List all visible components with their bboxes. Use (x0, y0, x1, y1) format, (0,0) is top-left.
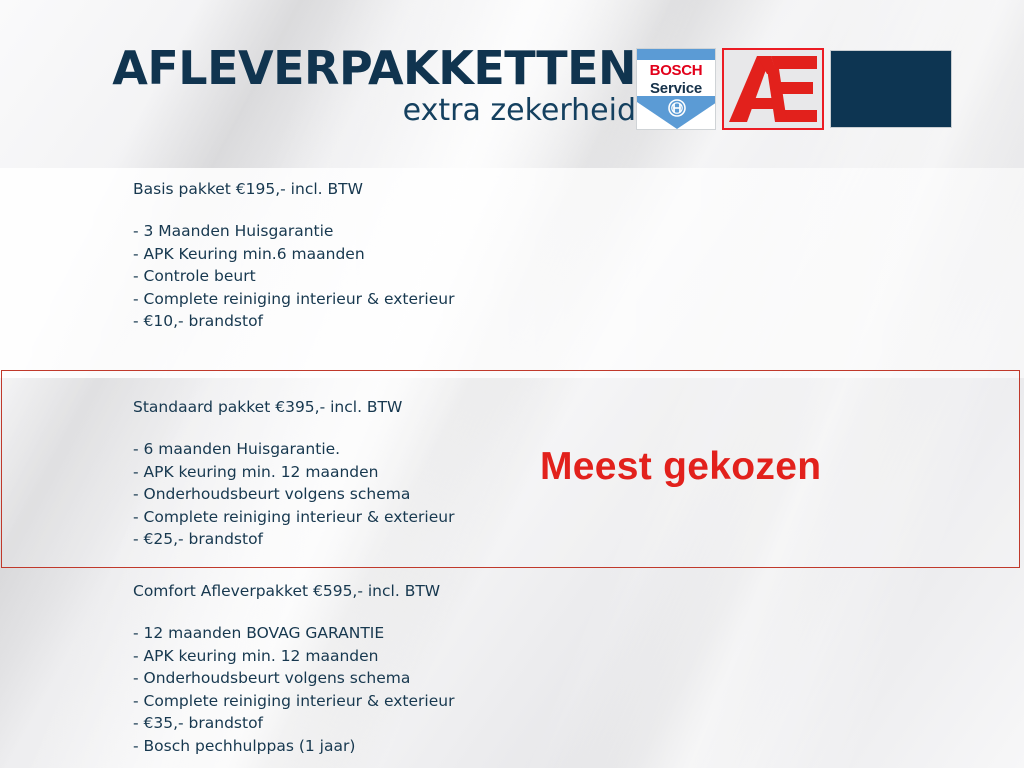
list-item: - APK keuring min. 12 maanden (133, 461, 454, 484)
header: AFLEVERPAKKETTEN extra zekerheid BOSCH S… (0, 0, 1024, 150)
list-item: - 6 maanden Huisgarantie. (133, 438, 454, 461)
bosch-top-bar (637, 49, 715, 60)
list-item: - Onderhoudsbeurt volgens schema (133, 483, 454, 506)
list-item: - Bosch pechhulppas (1 jaar) (133, 735, 454, 758)
list-item: - 3 Maanden Huisgarantie (133, 220, 454, 243)
list-item: - 12 maanden BOVAG GARANTIE (133, 622, 454, 645)
list-item: - Controle beurt (133, 265, 454, 288)
list-item: - €25,- brandstof (133, 528, 454, 551)
package-basis-features: - 3 Maanden Huisgarantie - APK Keuring m… (133, 220, 454, 333)
list-item: - Onderhoudsbeurt volgens schema (133, 667, 454, 690)
list-item: - APK Keuring min.6 maanden (133, 243, 454, 266)
package-standaard-features: - 6 maanden Huisgarantie. - APK keuring … (133, 438, 454, 551)
package-standaard-title: Standaard pakket €395,- incl. BTW (133, 396, 454, 418)
bosch-service-wordmark: Service (637, 80, 715, 97)
package-basis: Basis pakket €195,- incl. BTW - 3 Maande… (133, 178, 454, 333)
package-comfort: Comfort Afleverpakket €595,- incl. BTW -… (133, 580, 454, 757)
slide-canvas: AFLEVERPAKKETTEN extra zekerheid BOSCH S… (0, 0, 1024, 768)
package-comfort-title: Comfort Afleverpakket €595,- incl. BTW (133, 580, 454, 602)
list-item: - €10,- brandstof (133, 310, 454, 333)
ae-logo (722, 48, 824, 130)
page-title: AFLEVERPAKKETTEN (88, 44, 636, 92)
most-chosen-badge: Meest gekozen (540, 445, 821, 489)
ae-monogram-icon (727, 54, 819, 124)
list-item: - Complete reiniging interieur & exterie… (133, 288, 454, 311)
bosch-service-logo: BOSCH Service (636, 48, 716, 130)
list-item: - €35,- brandstof (133, 712, 454, 735)
package-standaard: Standaard pakket €395,- incl. BTW - 6 ma… (133, 396, 454, 551)
package-comfort-features: - 12 maanden BOVAG GARANTIE - APK keurin… (133, 622, 454, 757)
bosch-armature-icon (637, 96, 716, 129)
navy-placeholder-logo (830, 50, 952, 128)
bosch-wordmark: BOSCH (637, 62, 715, 79)
list-item: - APK keuring min. 12 maanden (133, 645, 454, 668)
list-item: - Complete reiniging interieur & exterie… (133, 690, 454, 713)
list-item: - Complete reiniging interieur & exterie… (133, 506, 454, 529)
package-basis-title: Basis pakket €195,- incl. BTW (133, 178, 454, 200)
page-subtitle: extra zekerheid (88, 94, 636, 129)
title-block: AFLEVERPAKKETTEN extra zekerheid (88, 44, 636, 129)
